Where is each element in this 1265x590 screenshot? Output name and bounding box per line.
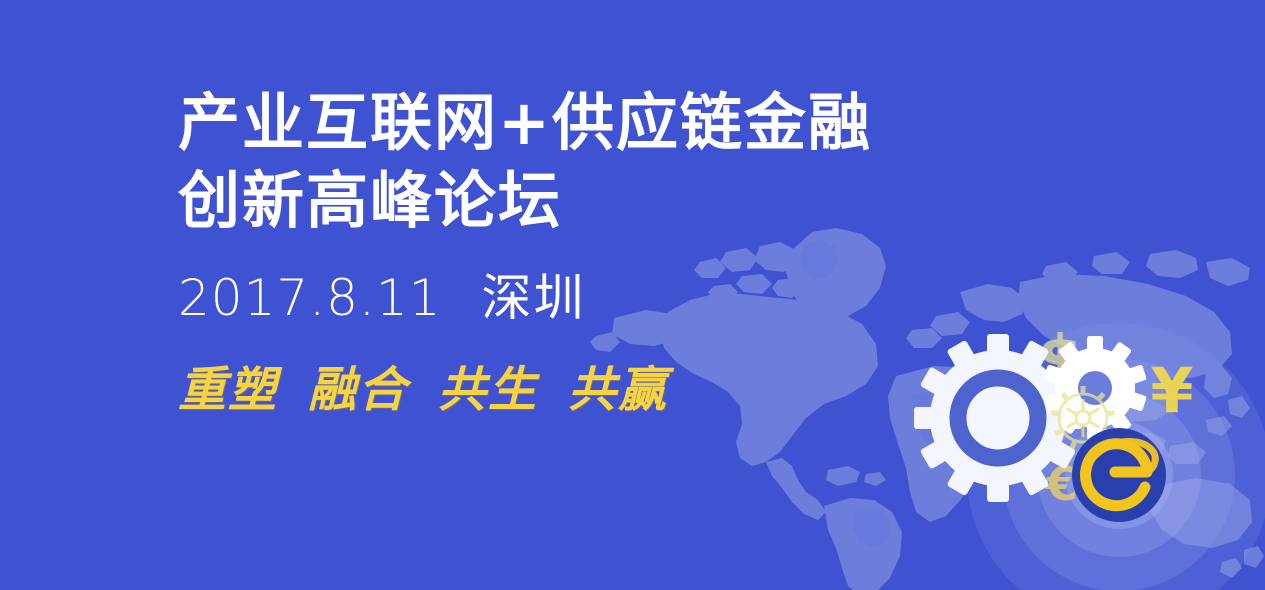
banner-text-block: 产业互联网+供应链金融 创新高峰论坛 2017.8.11深圳 重塑融合共生共赢 [178,86,872,418]
slogan-word-3: 共生 [438,362,538,418]
svg-text:€: € [1045,457,1078,511]
headline-line-2: 创新高峰论坛 [178,164,872,238]
event-slogan-row: 重塑融合共生共赢 [178,362,872,418]
yen-currency-icon: ¥ [1150,354,1193,427]
event-date: 2017.8.11 [178,269,441,327]
event-meta-row: 2017.8.11深圳 [178,270,872,326]
large-gear-icon [914,334,1082,502]
small-gear-icon [1043,336,1147,440]
slogan-word-4: 共赢 [568,362,668,418]
event-banner: $ ¥ € [0,0,1265,590]
event-city: 深圳 [481,269,585,327]
euro-currency-icon: € [1045,457,1078,511]
concentric-rings-graphic [967,323,1265,590]
browser-logo-icon [1072,428,1166,522]
slogan-word-2: 融合 [308,362,408,418]
headline-line-1: 产业互联网+供应链金融 [178,86,872,160]
tiny-gear-outline-icon [1051,386,1114,448]
dollar-currency-icon: $ [1037,321,1083,398]
svg-text:¥: ¥ [1150,354,1193,427]
slogan-word-1: 重塑 [178,362,278,418]
svg-text:$: $ [1037,321,1083,398]
